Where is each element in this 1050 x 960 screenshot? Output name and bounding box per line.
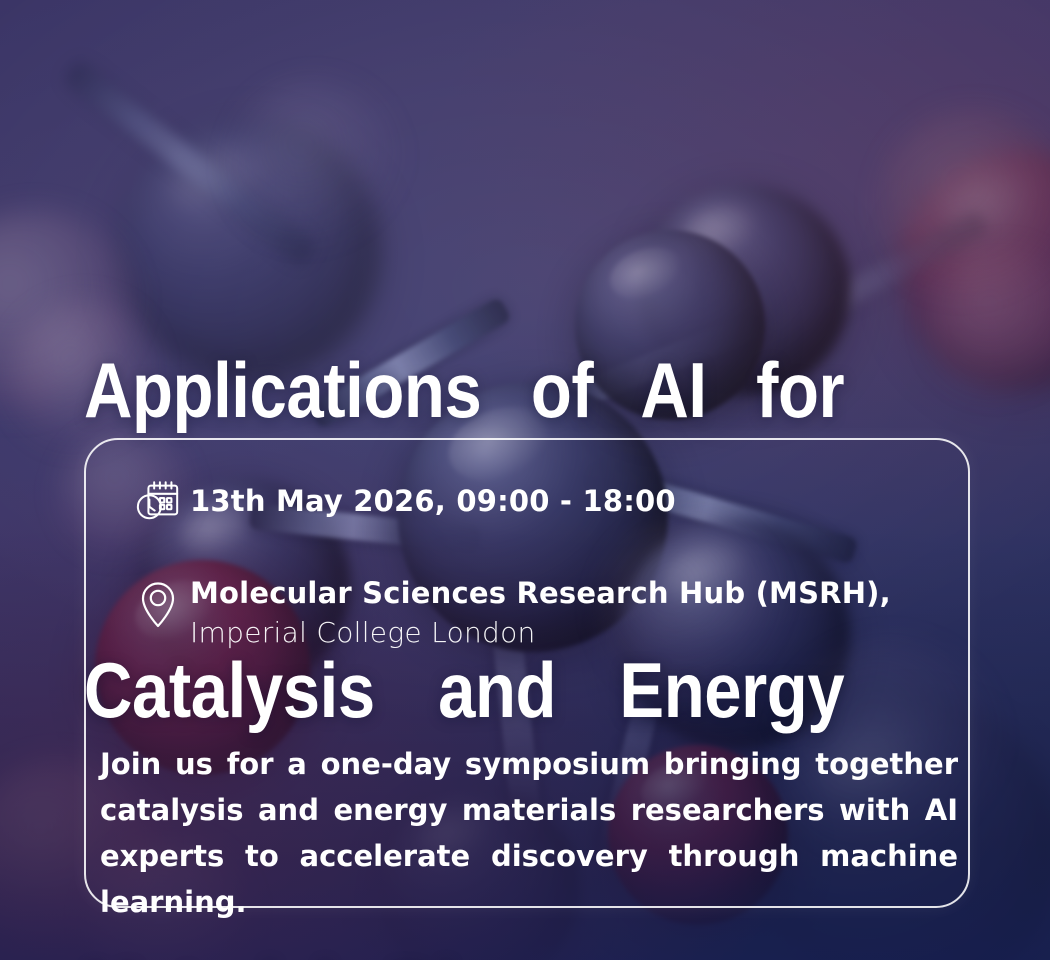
page-title-line-3: Materials Discovery (84, 940, 844, 960)
event-date-text: 13th May 2026, 09:00 - 18:00 (190, 484, 676, 519)
calendar-clock-icon (126, 478, 190, 524)
event-details-card: 13th May 2026, 09:00 - 18:00 Molecular S… (84, 438, 970, 908)
map-pin-icon (126, 575, 190, 629)
event-venue-institution: Imperial College London (190, 615, 891, 651)
event-date-row: 13th May 2026, 09:00 - 18:00 (126, 478, 676, 524)
event-venue-text-group: Molecular Sciences Research Hub (MSRH), … (190, 575, 891, 652)
event-venue-row: Molecular Sciences Research Hub (MSRH), … (126, 575, 891, 652)
event-poster: Applications of AI for Catalysis and Ene… (0, 0, 1050, 960)
poster-content: Applications of AI for Catalysis and Ene… (0, 0, 1050, 960)
event-description: Join us for a one-day symposium bringing… (100, 741, 958, 925)
page-title-line-1: Applications of AI for (84, 340, 844, 440)
event-venue-name: Molecular Sciences Research Hub (MSRH), (190, 575, 891, 612)
